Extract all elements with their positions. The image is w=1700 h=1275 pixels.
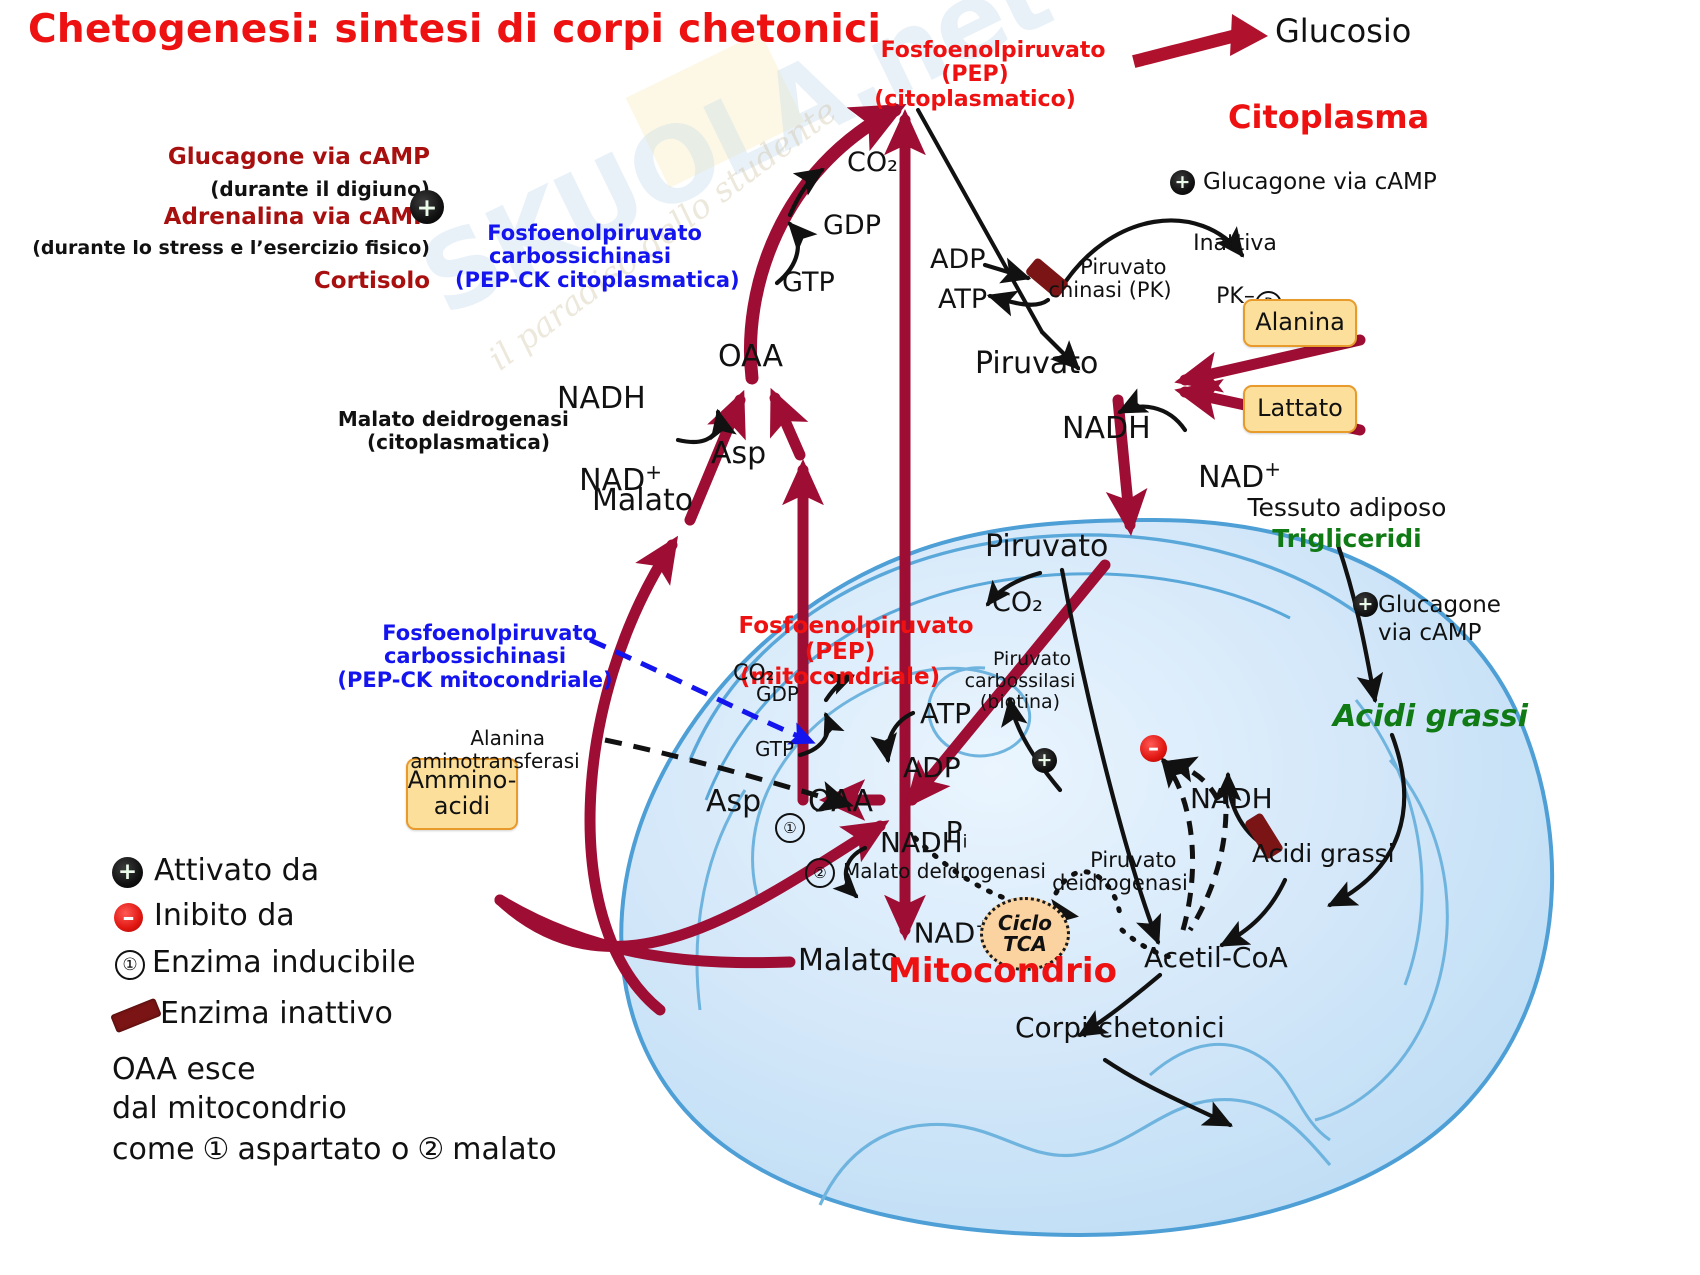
enzyme-pepck-mitochondrial-text: Fosfoenolpiruvato carbossichinasi (PEP-C… [337, 621, 612, 692]
pep-to-glucose-dotted-arrow [1140, 14, 1268, 60]
metabolite-malato-mitochondrial: Malato [798, 944, 899, 978]
legend-panel: + Attivato da – Inibito da ① Enzima indu… [112, 855, 582, 1053]
legend-label-attivato: Attivato da [154, 854, 319, 888]
enzyme-pyruvate-carboxylase-text: Piruvato carbossilasi (biotina) [965, 648, 1076, 713]
circled-one-icon-legend: ① [115, 950, 145, 980]
tissue-label-tessuto-adiposo: Tessuto adiposo [1232, 494, 1462, 522]
metabolite-corpi-chetonici: Corpi chetonici [1015, 1012, 1225, 1043]
enzyme-alanine-aminotransferase-text: Alanina aminotransferasi [410, 726, 579, 772]
hormone-adrenalina-camp: Adrenalina via cAMP [0, 205, 430, 231]
metabolite-piruvato-cytoplasmic: Piruvato [975, 347, 1098, 381]
hormone-stress-note: (durante lo stress e l’esercizio fisico) [0, 238, 430, 259]
enzyme-mdh-cytoplasmic: Malato deidrogenasi (citoplasmatica) [310, 386, 550, 476]
substrate-box-lattato-label: Lattato [1257, 396, 1343, 422]
cofactor-nad-mitochondrial-text: NAD [914, 917, 976, 950]
compartment-label-mitocondrio: Mitocondrio [888, 952, 1117, 990]
pk-activator-label: Glucagone via cAMP [1203, 170, 1437, 196]
metabolite-acetil-coa: Acetil-CoA [1144, 942, 1288, 973]
cofactor-nadh-lactate: NADH [1062, 412, 1151, 446]
metabolite-trigliceridi: Trigliceridi [1232, 525, 1462, 553]
circled-one-icon-mito: ① [775, 813, 805, 843]
legend-note-aspartato: aspartato o [237, 1132, 409, 1167]
metabolite-oaa-mitochondrial: OAA [808, 785, 873, 819]
plus-dot-icon-pyruvate-carboxylase: + [1032, 748, 1057, 773]
legend-label-inibito: Inibito da [154, 899, 295, 933]
cofactor-nadh-fatty-acid: NADH [1190, 783, 1273, 814]
legend-item-inibito: – Inibito da [112, 899, 582, 945]
cofactor-pi-subscript: i [963, 832, 968, 853]
hormone-digiuno-note: (durante il digiuno) [0, 178, 430, 200]
cofactor-nadh-cytoplasmic: NADH [557, 382, 646, 416]
legend-circled-one: ① [203, 1132, 230, 1167]
hormone-cortisolo: Cortisolo [0, 269, 430, 295]
legend-item-enzima-inducibile: ① Enzima inducibile [112, 945, 582, 993]
enzyme-mdh-cytoplasmic-text: Malato deidrogenasi (citoplasmatica) [338, 407, 569, 453]
pk-inactive-label: Inattiva [1150, 232, 1320, 257]
cofactor-nad-lactate-text: NAD [1198, 460, 1264, 495]
enzyme-pepck-cytoplasmic-text: Fosfoenolpiruvato carbossichinasi (PEP-C… [455, 221, 740, 292]
cofactor-adp-pyruvate-carboxylase: ADP [903, 752, 961, 783]
legend-note-line1: OAA esce [112, 1053, 256, 1087]
hormone-glucagone-camp: Glucagone via cAMP [0, 145, 430, 171]
metabolite-asp-mitochondrial: Asp [706, 785, 761, 819]
cofactor-atp-pyruvate-carboxylase: ATP [920, 698, 971, 729]
plus-dot-icon-adipose: + [1353, 592, 1378, 617]
diagram-canvas: SKUOLA.net il paradiso dello studente [0, 0, 1700, 1275]
enzyme-alanine-aminotransferase: Alanina aminotransferasi [380, 705, 610, 795]
circled-two-icon-mito: ② [805, 858, 835, 888]
cofactor-co2-cytoplasmic: CO₂ [847, 148, 898, 178]
legend-note-come: come [112, 1132, 195, 1167]
compartment-label-citoplasma: Citoplasma [1228, 100, 1429, 136]
legend-note-malato: malato [452, 1132, 556, 1167]
legend-circled-two: ② [417, 1132, 444, 1167]
substrate-box-alanina[interactable]: Alanina [1243, 299, 1357, 347]
metabolite-glucosio: Glucosio [1275, 14, 1411, 50]
legend-label-enzima-inattivo: Enzima inattivo [160, 997, 393, 1031]
metabolite-acidi-grassi-cytoplasmic: Acidi grassi [1333, 700, 1528, 734]
enzyme-mdh-mitochondrial: Malato deidrogenasi [843, 860, 1046, 882]
nad-plus-superscript: + [645, 460, 662, 484]
cofactor-nadh-mitochondrial: NADH [880, 827, 963, 858]
cofactor-atp-pk: ATP [938, 285, 987, 315]
minus-dot-icon-legend: – [114, 903, 143, 932]
metabolite-asp-cytoplasmic: Asp [711, 437, 766, 471]
legend-note-line3: come ① aspartato o ② malato [112, 1132, 557, 1167]
nad-lactate-plus-superscript: + [1264, 457, 1281, 481]
cofactor-gtp-cytoplasmic: GTP [782, 268, 835, 298]
enzyme-bar-icon-legend [110, 998, 162, 1034]
metabolite-oaa-cytoplasmic: OAA [718, 340, 783, 374]
enzyme-pepck-cytoplasmic: Fosfoenolpiruvato carbossichinasi (PEP-C… [455, 198, 705, 316]
legend-item-attivato: + Attivato da [112, 855, 582, 899]
legend-label-enzima-inducibile: Enzima inducibile [152, 946, 416, 980]
enzyme-pyruvate-dehydrogenase: Piruvato deidrogenasi [1030, 825, 1210, 919]
adipose-glucagone-label: Glucagone [1378, 593, 1501, 619]
plus-dot-icon-pepck: + [410, 190, 444, 224]
substrate-box-alanina-label: Alanina [1255, 310, 1345, 336]
plus-dot-icon-legend: + [112, 857, 143, 888]
cofactor-gdp-cytoplasmic: GDP [823, 211, 881, 241]
plus-dot-icon-pk: + [1170, 170, 1195, 195]
metabolite-acidi-grassi-mitochondrial: Acidi grassi [1252, 840, 1395, 868]
adipose-via-camp-label: via cAMP [1378, 621, 1482, 647]
enzyme-pyruvate-dehydrogenase-text: Piruvato deidrogenasi [1052, 848, 1188, 896]
legend-note-line2: dal mitocondrio [112, 1092, 347, 1126]
minus-dot-icon-pdh: – [1140, 735, 1167, 762]
enzyme-pepck-mitochondrial: Fosfoenolpiruvato carbossichinasi (PEP-C… [330, 598, 620, 716]
cofactor-gdp-mitochondrial: GDP [756, 683, 799, 705]
page-title: Chetogenesi: sintesi di corpi chetonici [28, 8, 881, 52]
metabolite-pep-cytoplasmic: Fosfoenolpiruvato (PEP) (citoplasmatico) [850, 14, 1100, 137]
substrate-box-lattato[interactable]: Lattato [1243, 385, 1357, 433]
cofactor-co2-pyruvate-carboxylase: CO₂ [992, 588, 1043, 618]
legend-item-enzima-inattivo: Enzima inattivo [112, 993, 582, 1043]
metabolite-malato-cytoplasmic: Malato [592, 484, 693, 518]
cofactor-gtp-mitochondrial: GTP [755, 738, 794, 760]
metabolite-pep-cytoplasmic-text: Fosfoenolpiruvato (PEP) (citoplasmatico) [874, 38, 1105, 112]
metabolite-piruvato-mitochondrial: Piruvato [985, 530, 1108, 564]
cofactor-adp-pk: ADP [930, 245, 986, 275]
ciclo-tca-label: Ciclo TCA [983, 913, 1067, 955]
